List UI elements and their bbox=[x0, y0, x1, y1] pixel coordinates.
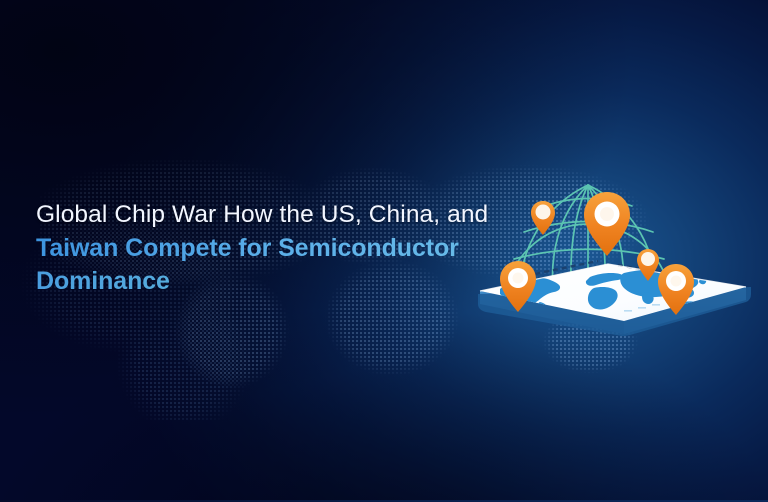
pin-globe-large[interactable] bbox=[584, 192, 630, 256]
globe-map-illustration bbox=[448, 160, 768, 365]
pin-globe-small[interactable] bbox=[531, 201, 555, 235]
banner-root: Global Chip War How the US, China, and T… bbox=[0, 0, 768, 502]
